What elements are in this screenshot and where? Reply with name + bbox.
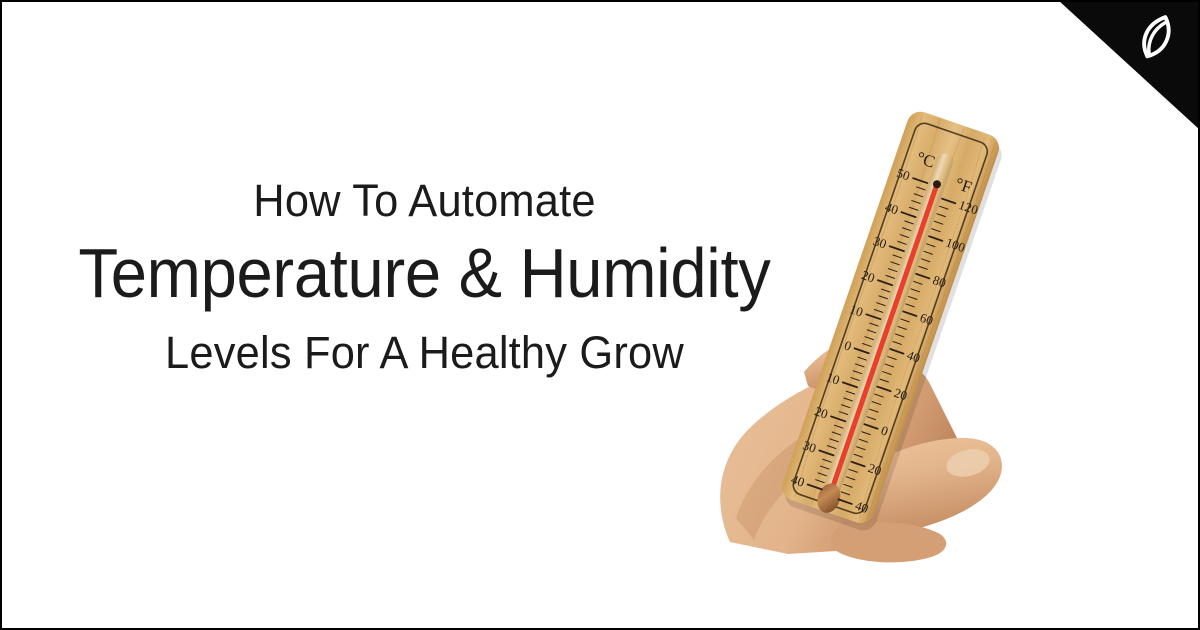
hand-middle-finger (831, 522, 946, 562)
poster-canvas: How To Automate Temperature & Humidity L… (0, 0, 1200, 630)
leaf-icon[interactable] (1132, 14, 1182, 64)
thermometer-photo: °C °F 5040302010010203040 12010080604020… (692, 72, 1122, 572)
thermometer-illustration: °C °F 5040302010010203040 12010080604020… (692, 72, 1122, 572)
